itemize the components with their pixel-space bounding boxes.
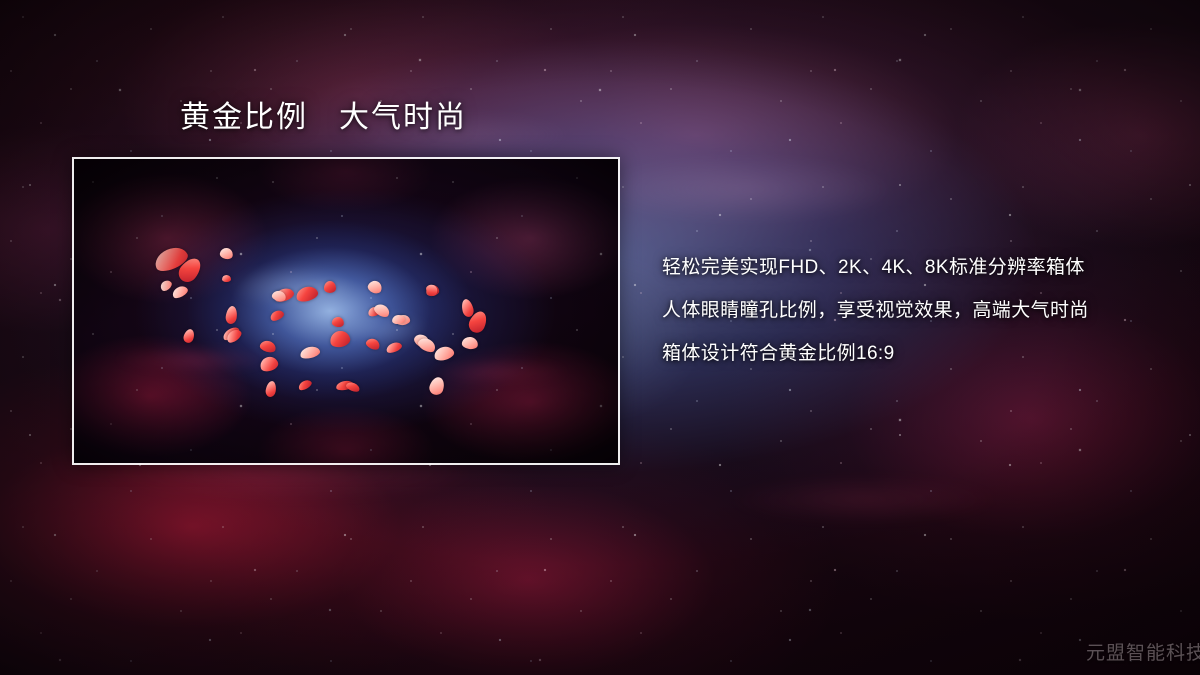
body-line-1: 轻松完美实现FHD、2K、4K、8K标准分辨率箱体 <box>662 258 1142 277</box>
photo-frame <box>72 157 620 465</box>
presentation-slide: 黄金比例 大气时尚 <box>0 0 1200 675</box>
body-copy: 轻松完美实现FHD、2K、4K、8K标准分辨率箱体 人体眼睛瞳孔比例，享受视觉效… <box>662 258 1142 363</box>
watermark: 元盟智能科技 <box>1086 638 1200 665</box>
body-line-3: 箱体设计符合黄金比例16:9 <box>662 344 1142 363</box>
photo-vignette <box>74 159 618 463</box>
body-line-2: 人体眼睛瞳孔比例，享受视觉效果，高端大气时尚 <box>662 301 1142 320</box>
slide-title: 黄金比例 大气时尚 <box>180 101 467 136</box>
photo-image <box>74 159 618 463</box>
